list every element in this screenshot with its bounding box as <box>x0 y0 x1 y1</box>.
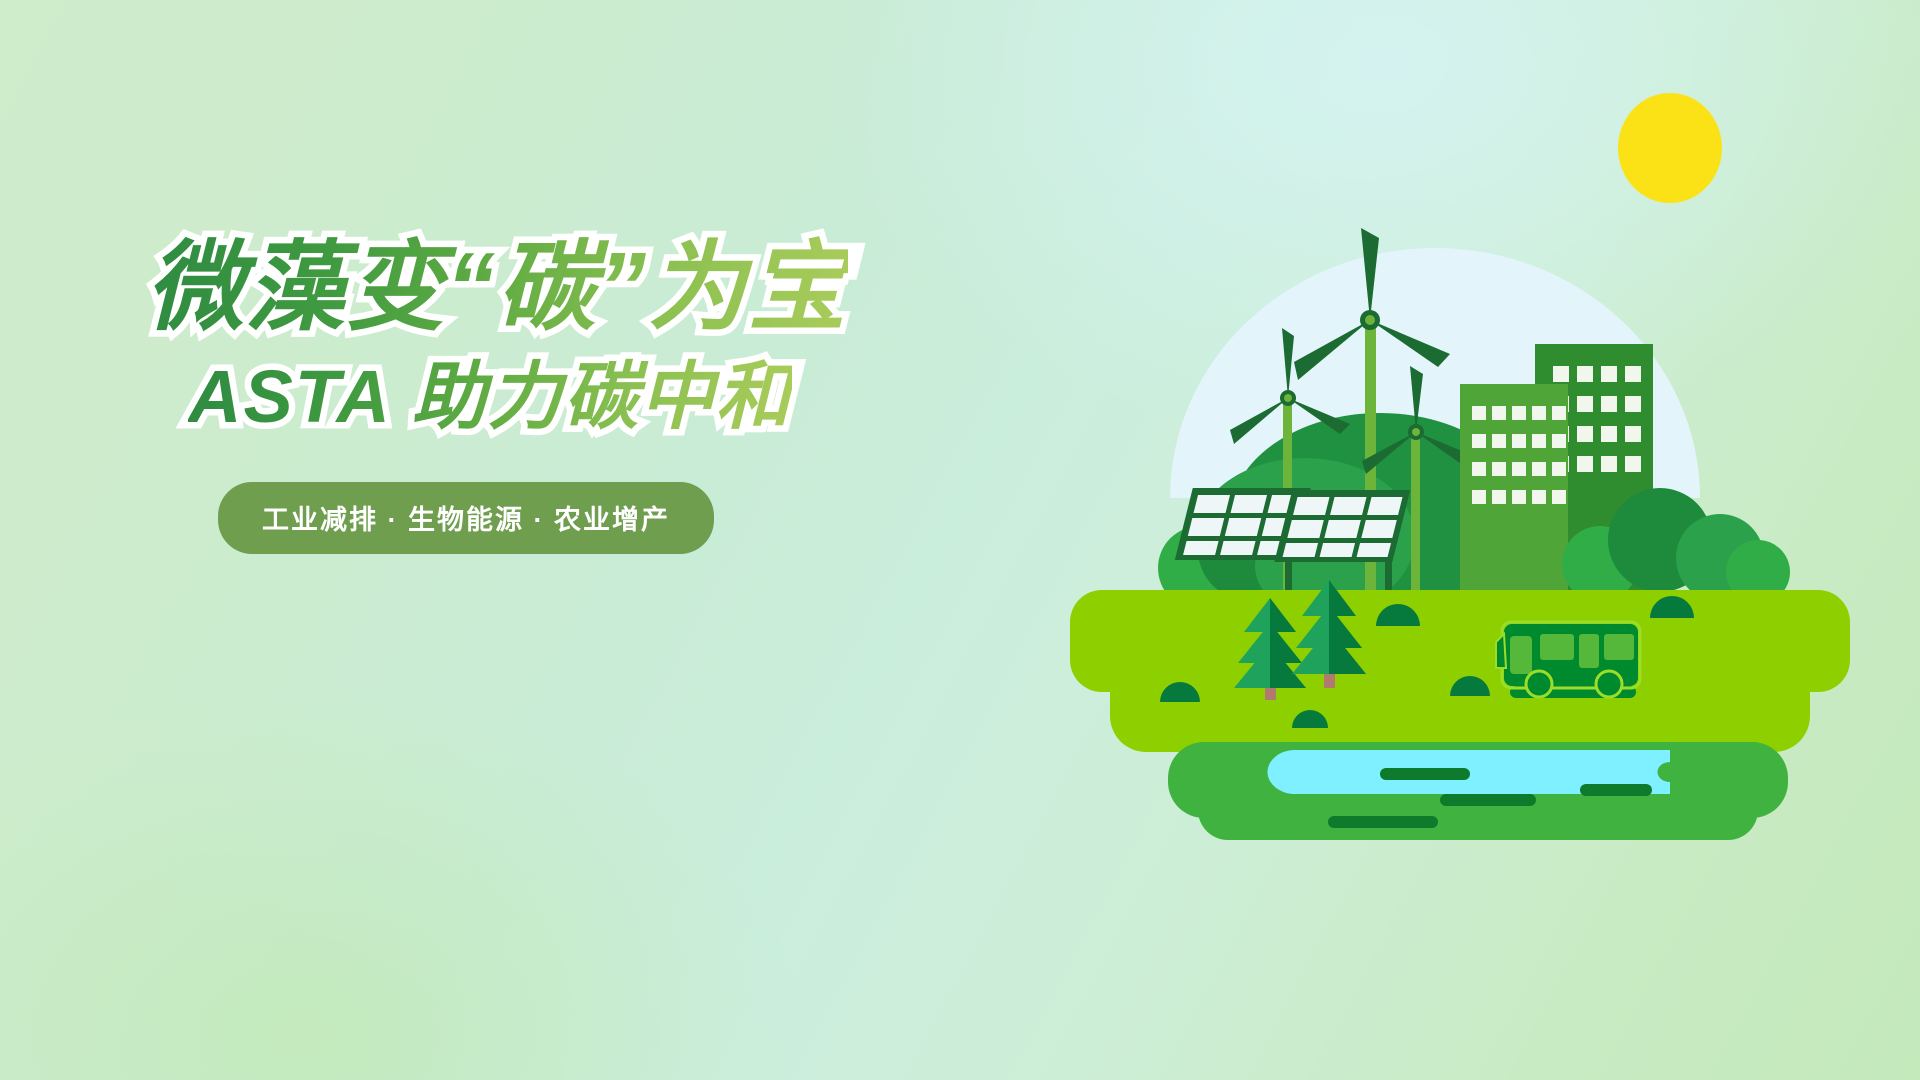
page-title-line2-fill: ASTA 助力碳中和 <box>188 355 792 438</box>
page-title-line1-fill: 微藻变“碳”为宝 <box>146 232 848 342</box>
page-title-line2: ASTA 助力碳中和 ASTA 助力碳中和 <box>188 360 906 452</box>
page-title-line1: 微藻变“碳”为宝 微藻变“碳”为宝 <box>146 238 906 348</box>
ground-layer <box>1070 590 1850 752</box>
electric-bus <box>1496 622 1640 698</box>
hero-text-block: 微藻变“碳”为宝 微藻变“碳”为宝 ASTA 助力碳中和 ASTA 助力碳中和 … <box>146 238 906 554</box>
tagline-pill: 工业减排 · 生物能源 · 农业增产 <box>218 482 714 554</box>
building-front <box>1460 384 1568 598</box>
eco-city-illustration <box>1080 78 1860 698</box>
sun-icon <box>1618 93 1722 203</box>
